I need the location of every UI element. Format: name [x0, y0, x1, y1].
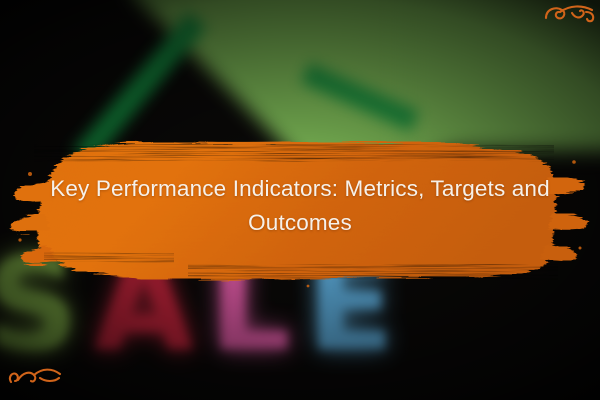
page-title: Key Performance Indicators: Metrics, Tar…: [40, 172, 560, 240]
slide-canvas: SALE: [0, 0, 600, 400]
page-title-line-1: Key Performance Indicators: Metrics, Tar…: [50, 176, 505, 201]
